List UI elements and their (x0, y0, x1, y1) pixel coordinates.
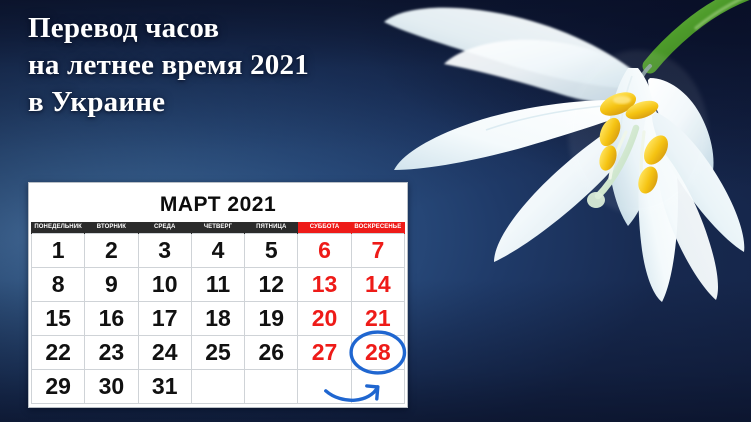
calendar-week-row: 15161718192021 (32, 302, 405, 336)
calendar-day-cell[interactable]: 5 (245, 234, 298, 268)
calendar-day-cell[interactable]: 2 (85, 234, 138, 268)
calendar-weekday-header: ПЯТНИЦА (245, 222, 298, 234)
calendar-day-cell[interactable]: 15 (32, 302, 85, 336)
calendar-day-cell[interactable]: 17 (138, 302, 191, 336)
calendar-day-cell[interactable]: 19 (245, 302, 298, 336)
calendar-day-cell[interactable]: 8 (32, 268, 85, 302)
calendar-table: ПОНЕДЕЛЬНИКВТОРНИКСРЕДАЧЕТВЕРГПЯТНИЦАСУБ… (31, 222, 405, 404)
calendar-day-cell[interactable]: 21 (351, 302, 404, 336)
calendar-weekday-header: ПОНЕДЕЛЬНИК (32, 222, 85, 234)
calendar-day-cell[interactable]: 1 (32, 234, 85, 268)
calendar-day-cell[interactable]: 30 (85, 370, 138, 404)
calendar-day-cell[interactable]: 12 (245, 268, 298, 302)
calendar-day-cell[interactable]: 26 (245, 336, 298, 370)
calendar-day-cell[interactable]: 9 (85, 268, 138, 302)
march-calendar-card: МАРТ 2021 ПОНЕДЕЛЬНИКВТОРНИКСРЕДАЧЕТВЕРГ… (28, 182, 408, 408)
calendar-day-cell-empty (298, 370, 351, 404)
calendar-weekday-header-row: ПОНЕДЕЛЬНИКВТОРНИКСРЕДАЧЕТВЕРГПЯТНИЦАСУБ… (32, 222, 405, 234)
calendar-weekday-header: ВОСКРЕСЕНЬЕ (351, 222, 404, 234)
calendar-day-cell[interactable]: 20 (298, 302, 351, 336)
calendar-day-cell[interactable]: 16 (85, 302, 138, 336)
calendar-day-cell[interactable]: 4 (191, 234, 244, 268)
calendar-day-cell[interactable]: 29 (32, 370, 85, 404)
calendar-weekday-header: ВТОРНИК (85, 222, 138, 234)
calendar-week-row: 891011121314 (32, 268, 405, 302)
calendar-month-title: МАРТ 2021 (31, 185, 405, 222)
calendar-day-cell[interactable]: 23 (85, 336, 138, 370)
calendar-week-row: 293031 (32, 370, 405, 404)
calendar-week-row: 22232425262728 (32, 336, 405, 370)
calendar-weekday-header: ЧЕТВЕРГ (191, 222, 244, 234)
calendar-day-cell[interactable]: 6 (298, 234, 351, 268)
calendar-day-cell[interactable]: 27 (298, 336, 351, 370)
calendar-day-cell-empty (351, 370, 404, 404)
page-title: Перевод часов на летнее время 2021 в Укр… (28, 10, 428, 121)
calendar-day-cell[interactable]: 14 (351, 268, 404, 302)
calendar-day-cell[interactable]: 28 (351, 336, 404, 370)
calendar-day-cell[interactable]: 7 (351, 234, 404, 268)
calendar-day-cell[interactable]: 10 (138, 268, 191, 302)
calendar-day-cell[interactable]: 18 (191, 302, 244, 336)
calendar-day-cell[interactable]: 22 (32, 336, 85, 370)
calendar-week-row: 1234567 (32, 234, 405, 268)
calendar-day-cell-empty (191, 370, 244, 404)
calendar-day-cell[interactable]: 25 (191, 336, 244, 370)
calendar-day-cell[interactable]: 3 (138, 234, 191, 268)
poster: Перевод часов на летнее время 2021 в Укр… (0, 0, 751, 422)
calendar-day-cell[interactable]: 13 (298, 268, 351, 302)
calendar-weekday-header: СУББОТА (298, 222, 351, 234)
calendar-day-cell-empty (245, 370, 298, 404)
calendar-day-cell[interactable]: 11 (191, 268, 244, 302)
calendar-day-cell[interactable]: 24 (138, 336, 191, 370)
calendar-weekday-header: СРЕДА (138, 222, 191, 234)
calendar-body: 1234567891011121314151617181920212223242… (32, 234, 405, 404)
calendar-day-cell[interactable]: 31 (138, 370, 191, 404)
